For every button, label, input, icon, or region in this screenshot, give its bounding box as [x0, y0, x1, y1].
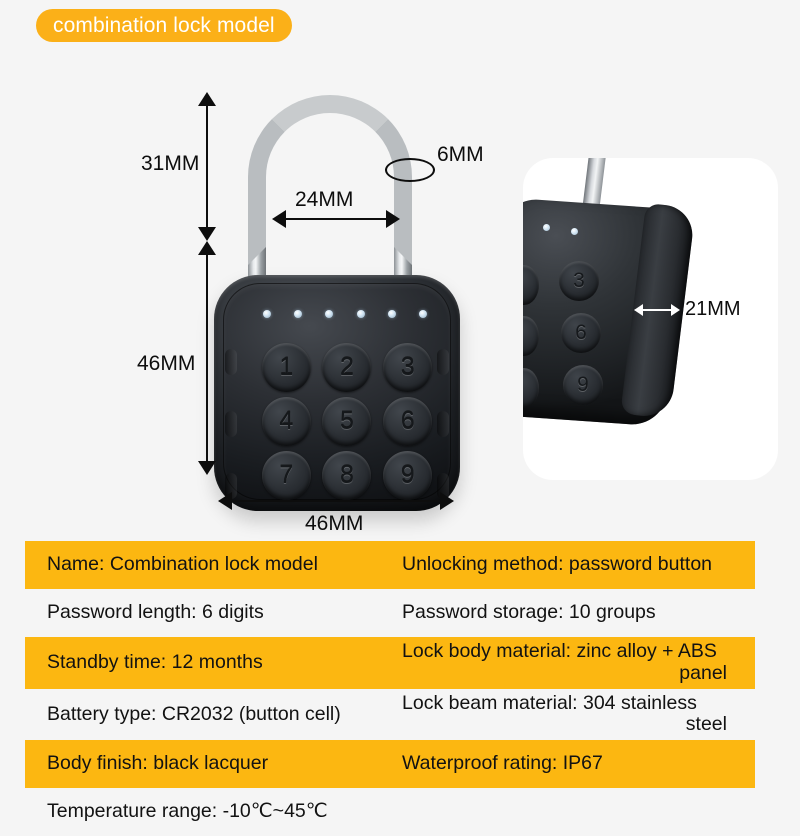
spec-cell-left: Battery type: CR2032 (button cell) — [25, 700, 402, 730]
keypad-key: 5 — [317, 394, 378, 448]
spec-cell-wrapped-line: steel — [402, 714, 755, 736]
inset-keypad-key: 3 — [559, 261, 599, 301]
keypad-digit: 8 — [340, 461, 354, 490]
specifications-table: Name: Combination lock model Unlocking m… — [25, 541, 755, 836]
led-indicator — [263, 310, 271, 318]
table-row: Name: Combination lock model Unlocking m… — [25, 541, 755, 589]
inset-led-indicator — [543, 224, 550, 231]
keypad-digit: 6 — [401, 407, 415, 436]
spec-cell-right: Password storage: 10 groups — [402, 598, 755, 628]
padlock-graphic: 1 2 3 4 5 6 7 8 9 — [214, 95, 460, 520]
spec-cell-right: Waterproof rating: IP67 — [402, 749, 755, 779]
spec-cell-right — [402, 808, 755, 816]
inset-keypad-key: 6 — [561, 313, 601, 353]
table-row: Body finish: black lacquer Waterproof ra… — [25, 740, 755, 788]
spec-cell-wrapped-line: panel — [402, 663, 755, 685]
keypad-digit: 5 — [340, 407, 354, 436]
dim-line-31mm — [206, 103, 208, 231]
lock-body-face: 1 2 3 4 5 6 7 8 9 — [223, 283, 451, 500]
product-illustration: 1 2 3 4 5 6 7 8 9 31MM 46MM 24MM 6MM — [0, 55, 800, 535]
keypad-digit: 3 — [401, 353, 415, 382]
spec-cell-right: Lock beam material: 304 stainlesssteel — [402, 689, 755, 741]
dim-arrow-31mm-bottom — [198, 227, 216, 241]
keypad-key: 2 — [317, 340, 378, 394]
spec-cell-right: Unlocking method: password button — [402, 550, 755, 580]
dim-line-46mm-vertical — [206, 252, 208, 464]
body-notch — [225, 349, 237, 375]
keypad-key: 6 — [377, 394, 438, 448]
body-notch — [437, 411, 449, 437]
spec-cell-left: Temperature range: -10℃~45℃ — [25, 797, 402, 827]
spec-cell-left: Name: Combination lock model — [25, 550, 402, 580]
dim-arrow-46mm-bottom — [198, 461, 216, 475]
dim-ellipse-6mm — [385, 158, 435, 182]
led-indicator — [294, 310, 302, 318]
keypad-digit: 7 — [279, 461, 293, 490]
table-row: Password length: 6 digits Password stora… — [25, 589, 755, 637]
spec-cell-left: Body finish: black lacquer — [25, 749, 402, 779]
dim-label-46mm-height: 46MM — [137, 352, 195, 376]
inset-dim-line-21mm — [642, 309, 673, 311]
dim-label-21mm: 21MM — [685, 298, 741, 321]
table-row: Battery type: CR2032 (button cell) Lock … — [25, 689, 755, 741]
dim-label-24mm: 24MM — [295, 188, 353, 212]
body-notch — [225, 411, 237, 437]
keypad-key: 8 — [317, 448, 378, 502]
inset-dim-arrow-right — [671, 304, 680, 316]
dim-label-46mm-width: 46MM — [305, 512, 363, 536]
keypad-digit: 2 — [340, 353, 354, 382]
inset-led-indicator — [571, 228, 578, 235]
led-indicator — [325, 310, 333, 318]
keypad-key: 3 — [377, 340, 438, 394]
spec-cell-left: Password length: 6 digits — [25, 598, 402, 628]
body-notch — [437, 349, 449, 375]
page-title-badge: combination lock model — [36, 9, 292, 42]
dim-label-6mm: 6MM — [437, 143, 484, 167]
lock-body: 1 2 3 4 5 6 7 8 9 — [214, 275, 460, 511]
led-indicator — [388, 310, 396, 318]
keypad: 1 2 3 4 5 6 7 8 9 — [256, 340, 438, 502]
led-indicator-row — [263, 310, 427, 318]
keypad-digit: 1 — [279, 353, 293, 382]
spec-cell-right: Lock body material: zinc alloy + ABSpane… — [402, 637, 755, 689]
dim-label-31mm: 31MM — [141, 152, 199, 176]
table-row: Temperature range: -10℃~45℃ — [25, 788, 755, 836]
dim-line-24mm — [284, 218, 388, 220]
spec-cell-left: Standby time: 12 months — [25, 648, 402, 678]
keypad-digit: 9 — [401, 461, 415, 490]
inset-keypad-key: 9 — [563, 365, 603, 405]
keypad-key: 4 — [256, 394, 317, 448]
table-row: Standby time: 12 months Lock body materi… — [25, 637, 755, 689]
dim-arrow-24mm-right — [386, 210, 400, 228]
keypad-key: 7 — [256, 448, 317, 502]
dim-arrow-46mm-wright — [440, 492, 454, 510]
led-indicator — [419, 310, 427, 318]
keypad-digit: 4 — [279, 407, 293, 436]
dim-line-46mm-horizontal — [230, 500, 442, 502]
shackle-arch — [248, 95, 412, 265]
led-indicator — [357, 310, 365, 318]
keypad-key: 9 — [377, 448, 438, 502]
keypad-key: 1 — [256, 340, 317, 394]
